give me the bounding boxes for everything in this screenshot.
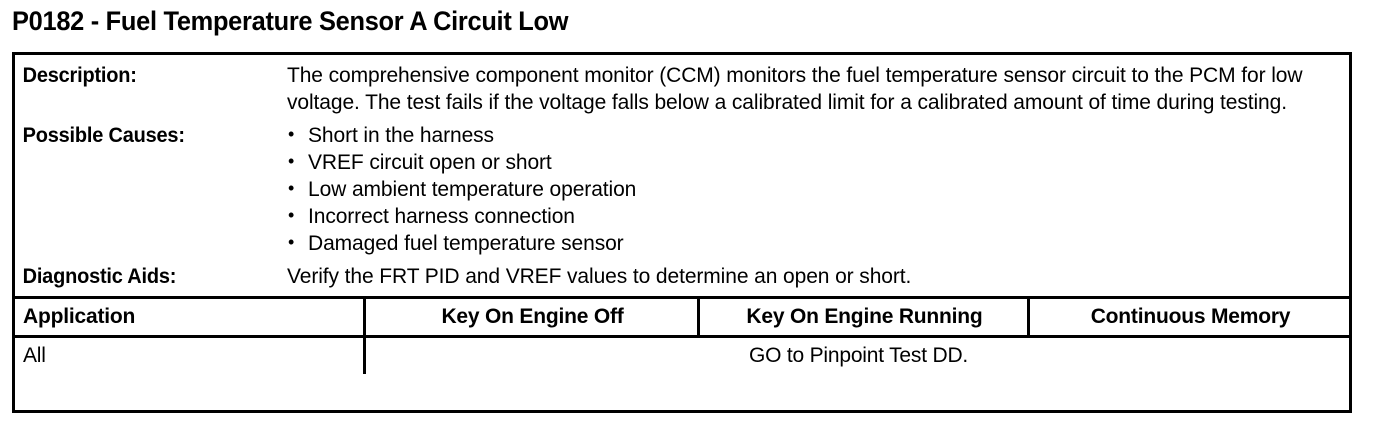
possible-causes-row: Possible Causes: Short in the harness VR… xyxy=(15,116,1349,257)
dtc-detail-table: Description: The comprehensive component… xyxy=(12,52,1352,413)
possible-causes-list: Short in the harness VREF circuit open o… xyxy=(287,122,1337,257)
list-item: VREF circuit open or short xyxy=(287,149,1337,176)
list-item: Damaged fuel temperature sensor xyxy=(287,230,1337,257)
diagnostic-aids-row: Diagnostic Aids: Verify the FRT PID and … xyxy=(15,257,1349,296)
description-row: Description: The comprehensive component… xyxy=(15,55,1349,116)
column-header-application: Application xyxy=(15,299,363,335)
possible-causes-value: Short in the harness VREF circuit open o… xyxy=(287,122,1349,257)
cell-test-result: GO to Pinpoint Test DD. xyxy=(363,338,1349,374)
table-header-row: Application Key On Engine Off Key On Eng… xyxy=(15,299,1349,335)
application-grid: Application Key On Engine Off Key On Eng… xyxy=(15,299,1349,374)
column-header-key-on-engine-off: Key On Engine Off xyxy=(363,299,697,335)
description-label: Description: xyxy=(15,62,273,90)
list-item: Incorrect harness connection xyxy=(287,203,1337,230)
dtc-reference-page: P0182 - Fuel Temperature Sensor A Circui… xyxy=(0,0,1392,430)
page-title: P0182 - Fuel Temperature Sensor A Circui… xyxy=(12,4,568,38)
info-section: Description: The comprehensive component… xyxy=(15,55,1349,296)
description-text: The comprehensive component monitor (CCM… xyxy=(287,62,1327,116)
cell-application: All xyxy=(15,338,363,374)
diagnostic-aids-label: Diagnostic Aids: xyxy=(15,263,273,291)
possible-causes-label: Possible Causes: xyxy=(15,122,273,150)
diagnostic-aids-text: Verify the FRT PID and VREF values to de… xyxy=(287,263,1349,290)
column-header-key-on-engine-running: Key On Engine Running xyxy=(697,299,1027,335)
column-header-continuous-memory: Continuous Memory xyxy=(1027,299,1349,335)
table-row: All GO to Pinpoint Test DD. xyxy=(15,338,1349,374)
list-item: Short in the harness xyxy=(287,122,1337,149)
list-item: Low ambient temperature operation xyxy=(287,176,1337,203)
